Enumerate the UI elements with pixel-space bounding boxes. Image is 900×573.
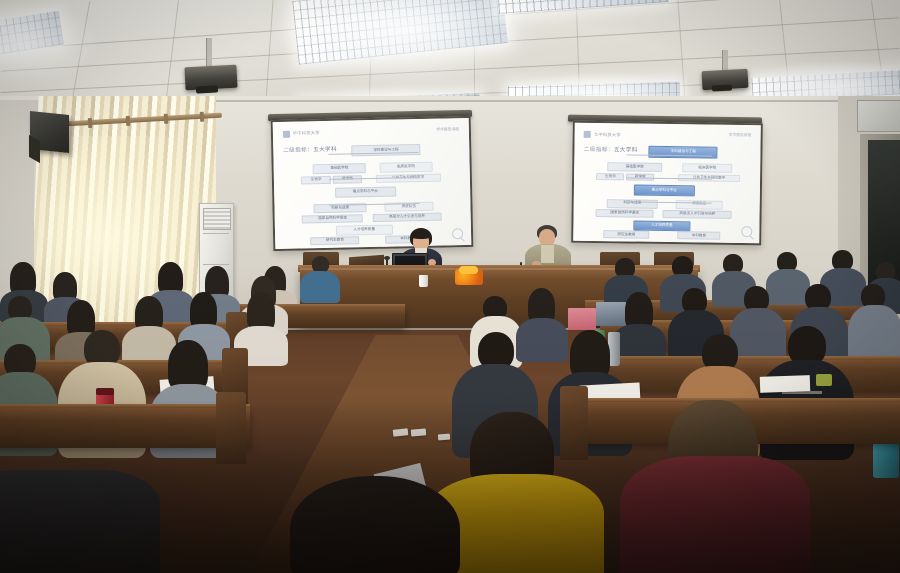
slide-content-right: 华中科技大学 学术报告讲座 二级指标：五大学科 学科建设与工程基础医学院临床医学… — [573, 123, 761, 244]
projection-screen-right: 华中科技大学 学术报告讲座 二级指标：五大学科 学科建设与工程基础医学院临床医学… — [571, 121, 763, 246]
bench-row4-left — [0, 408, 250, 448]
student-foreground-left-shoulder — [0, 470, 160, 573]
paper-on-desk-2 — [760, 375, 811, 393]
slide-date-label: 学术报告讲座 — [729, 133, 752, 138]
door-transom-window — [857, 100, 900, 132]
desk-microphone-head — [384, 256, 390, 260]
slide-node: 人才培养质量 — [633, 220, 691, 231]
search-icon — [452, 228, 463, 239]
tshirt-badge — [816, 374, 832, 386]
slide-node: 研究生教育 — [310, 236, 359, 245]
slide-node: 临床医学院 — [379, 162, 432, 173]
slide-node: 重点学科与平台 — [335, 187, 396, 198]
projector-lens-left — [196, 85, 218, 93]
projector-mount-rod-left — [206, 38, 212, 68]
slide-node: 研究生教育 — [603, 230, 650, 239]
slide-title: 二级指标：五大学科 — [283, 145, 337, 154]
slide-date-label: 学术报告讲座 — [436, 127, 459, 132]
slide-node: 临床医学院 — [682, 163, 732, 173]
slide-node: 高层次人才引进与培养 — [663, 210, 732, 219]
slide-node: 科研与成果 — [607, 199, 657, 209]
slide-node: 生物学 — [596, 173, 624, 181]
slide-node: 高层次人才引进与培养 — [373, 213, 442, 223]
slide-node: 学科建设与工程 — [352, 144, 421, 156]
slide-node-diagram-left: 学科建设与工程基础医学院临床医学院生物学药学院公共卫生与预防医学重点学科与平台科… — [273, 118, 469, 122]
slide-university-name: 华中科技大学 — [293, 130, 320, 137]
student-red-top — [620, 400, 810, 573]
slide-header-right: 华中科技大学 — [584, 131, 621, 139]
bench-end-row4-left — [216, 392, 246, 464]
university-logo-icon — [584, 131, 591, 138]
slide-node-diagram-right: 学科建设与工程基础医学院临床医学院生物学药学院公共卫生与预防医学重点学科与平台科… — [575, 123, 761, 126]
projector-lens-right — [712, 84, 732, 91]
slide-node: 国家自然科学基金 — [302, 214, 363, 224]
slide-node: 重点学科与平台 — [633, 185, 695, 196]
projector-mount-rod-right — [722, 50, 728, 72]
audience-member-c12 — [848, 284, 900, 364]
student-red-torso — [620, 456, 810, 573]
lecture-hall-photo: 华中科技大学 学术报告讲座 二级指标：五大学科 学科建设与工程基础医学院临床医学… — [0, 0, 900, 573]
slide-node: 基础医学院 — [313, 163, 366, 174]
slide-node: 基础医学院 — [608, 162, 662, 172]
ac-grill — [203, 208, 231, 230]
slide-node: 师资队伍 — [676, 200, 723, 210]
slide-node: 本科教育 — [677, 232, 720, 240]
slide-node: 国家自然科学基金 — [596, 209, 654, 218]
flower-arrangement-top — [459, 266, 478, 274]
paper-cup — [419, 275, 428, 287]
audience-member-far-1 — [300, 256, 340, 302]
search-icon — [741, 226, 752, 237]
slide-node: 学科建设与工程 — [649, 146, 718, 158]
laptop-pink[interactable] — [568, 308, 596, 330]
slide-node: 人才培养质量 — [336, 225, 393, 236]
slide-header-left: 华中科技大学 — [283, 130, 320, 138]
student-foreground-dark-head — [290, 476, 460, 573]
presenter-woman-fringe — [411, 230, 431, 239]
slide-title: 二级指标：五大学科 — [584, 145, 638, 154]
university-logo-icon — [283, 131, 290, 138]
presenter-man-shirt — [541, 245, 554, 263]
thermos-red-cap — [96, 388, 114, 395]
slide-university-name: 华中科技大学 — [594, 132, 621, 138]
slide-node: 生物学 — [301, 175, 331, 184]
